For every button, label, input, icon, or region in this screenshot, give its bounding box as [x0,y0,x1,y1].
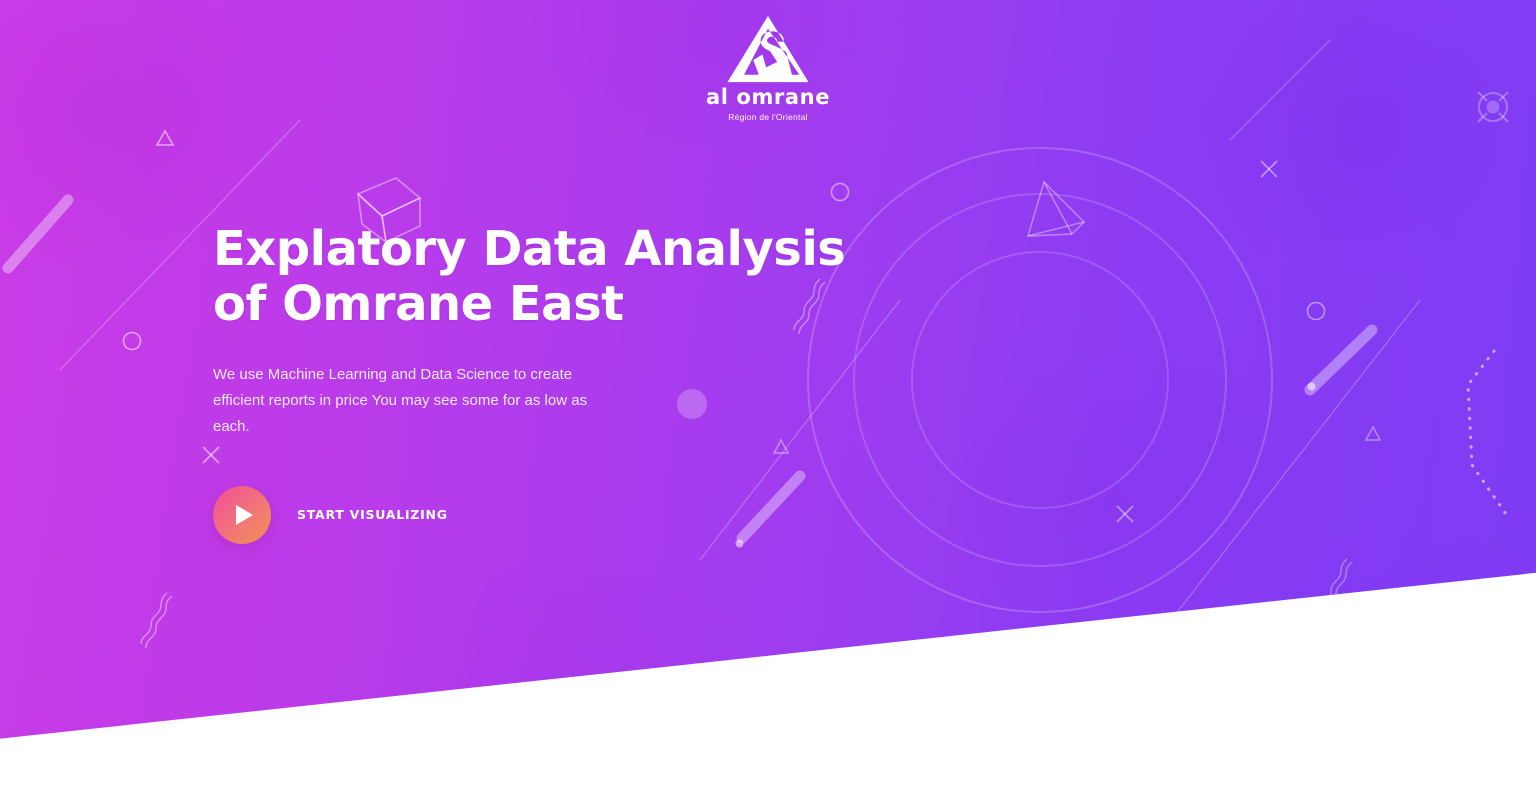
brand-wordmark: al omrane [703,87,833,108]
play-icon [236,505,253,525]
start-visualizing-button[interactable]: START VISUALIZING [297,507,448,522]
brand-logo[interactable]: al omrane Région de l'Oriental [703,14,833,122]
hero-background-panel: al omrane Région de l'Oriental Explatory… [0,0,1536,790]
hero-cta-group[interactable]: START VISUALIZING [213,486,873,544]
page-title: Explatory Data Analysis of Omrane East [213,222,853,331]
hero-description: We use Machine Learning and Data Science… [213,362,625,439]
al-omrane-triangle-logo-icon [725,14,811,84]
hero-section: al omrane Région de l'Oriental Explatory… [0,0,1536,790]
brand-tagline: Région de l'Oriental [703,112,833,122]
hero-copy-block: Explatory Data Analysis of Omrane East W… [213,222,873,544]
play-button[interactable] [213,486,271,544]
